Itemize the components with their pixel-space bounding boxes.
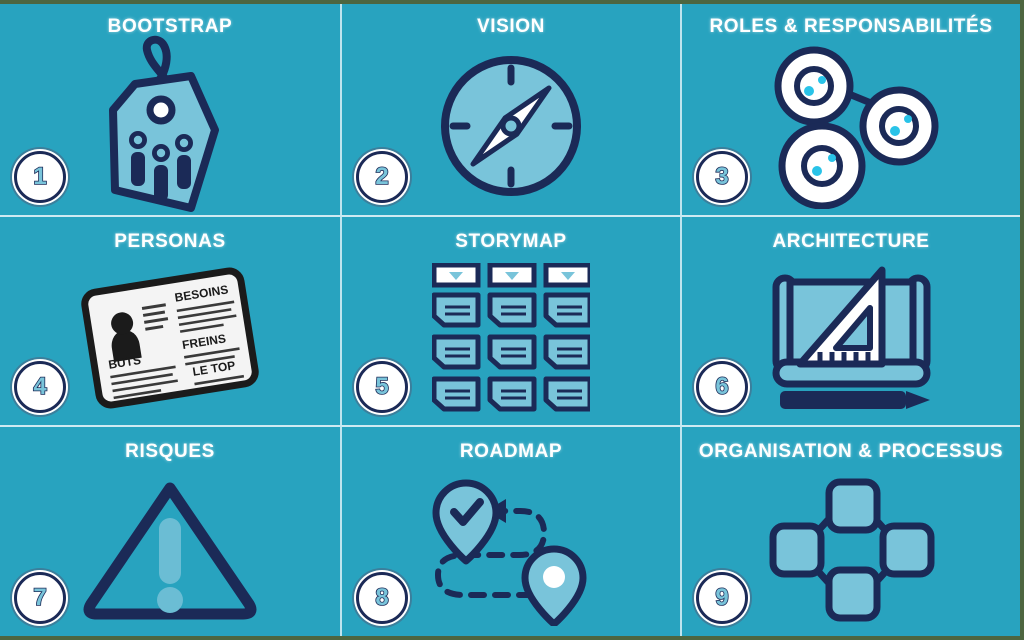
cell-personas[interactable]: PERSONAS (0, 215, 340, 426)
cell-bootstrap[interactable]: BOOTSTRAP (0, 4, 340, 215)
poster-canvas: BOOTSTRAP (0, 0, 1024, 640)
cell-number-badge: 9 (696, 572, 748, 624)
cell-number-badge: 6 (696, 361, 748, 413)
cell-title: ROADMAP (342, 441, 680, 463)
cell-organisation-processus[interactable]: ORGANISATION & PROCESSUS 9 (680, 425, 1020, 636)
cell-risques[interactable]: RISQUES 7 (0, 425, 340, 636)
cell-roles-responsabilites[interactable]: ROLES & RESPONSABILITÉS (680, 4, 1020, 215)
cell-number-badge: 5 (356, 361, 408, 413)
cell-number-badge: 8 (356, 572, 408, 624)
cell-number-badge: 4 (14, 361, 66, 413)
cell-number-badge: 2 (356, 151, 408, 203)
cell-storymap[interactable]: STORYMAP (340, 215, 680, 426)
cell-title: PERSONAS (0, 231, 340, 253)
cell-number-badge: 3 (696, 151, 748, 203)
nine-cell-grid: BOOTSTRAP (0, 4, 1020, 636)
cell-title: STORYMAP (342, 231, 680, 253)
cell-title: VISION (342, 16, 680, 38)
cell-title: ROLES & RESPONSABILITÉS (682, 16, 1020, 38)
cell-title: ARCHITECTURE (682, 231, 1020, 253)
cell-architecture[interactable]: ARCHITECTURE (680, 215, 1020, 426)
cell-title: RISQUES (0, 441, 340, 463)
cell-number-badge: 7 (14, 572, 66, 624)
cell-roadmap[interactable]: ROADMAP 8 (340, 425, 680, 636)
cell-title: ORGANISATION & PROCESSUS (682, 441, 1020, 463)
cell-vision[interactable]: VISION 2 (340, 4, 680, 215)
cell-number-badge: 1 (14, 151, 66, 203)
